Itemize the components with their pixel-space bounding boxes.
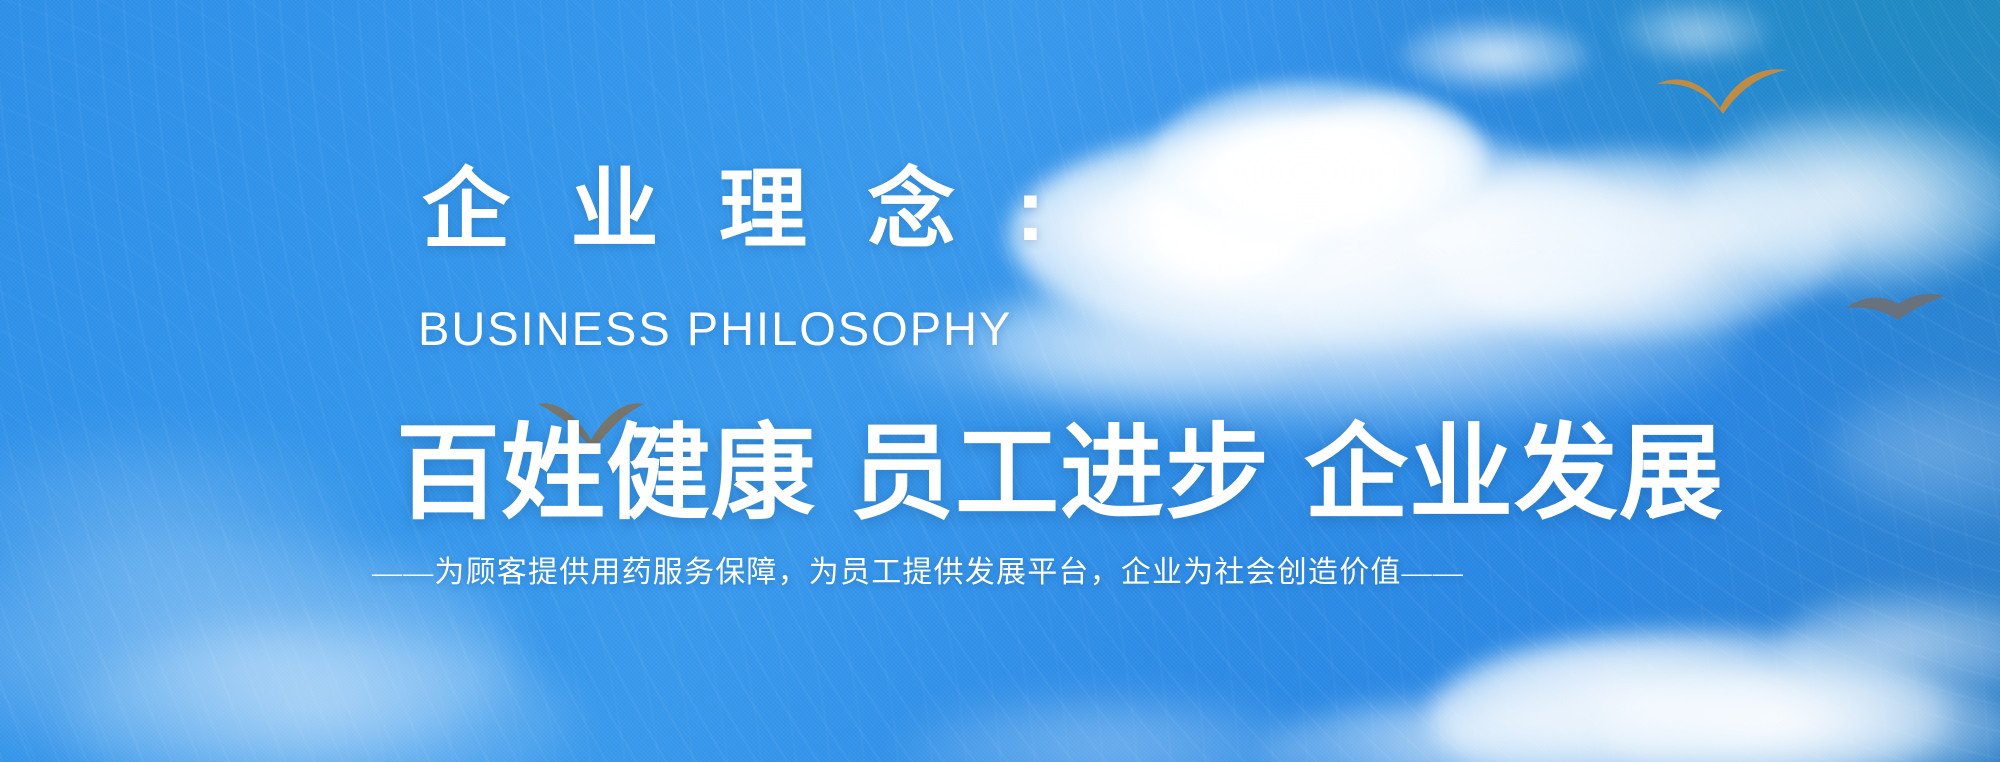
- slogan-segment-3: 企业发展: [1304, 416, 1724, 532]
- banner-english-subtitle: BUSINESS PHILOSOPHY: [418, 305, 1012, 352]
- slogan-segment-1: 百姓健康: [396, 416, 816, 532]
- banner-tagline: ——为顾客提供用药服务保障，为员工提供发展平台，企业为社会创造价值——: [372, 558, 1464, 588]
- business-philosophy-banner: 企 业 理 念 : BUSINESS PHILOSOPHY 百姓健康员工进步企业…: [0, 0, 2000, 762]
- slogan-segment-2: 员工进步: [850, 416, 1270, 532]
- banner-copy: 企 业 理 念 : BUSINESS PHILOSOPHY 百姓健康员工进步企业…: [0, 0, 2000, 762]
- banner-slogan: 百姓健康员工进步企业发展: [396, 418, 1724, 530]
- banner-kicker: 企 业 理 念 :: [422, 166, 1063, 254]
